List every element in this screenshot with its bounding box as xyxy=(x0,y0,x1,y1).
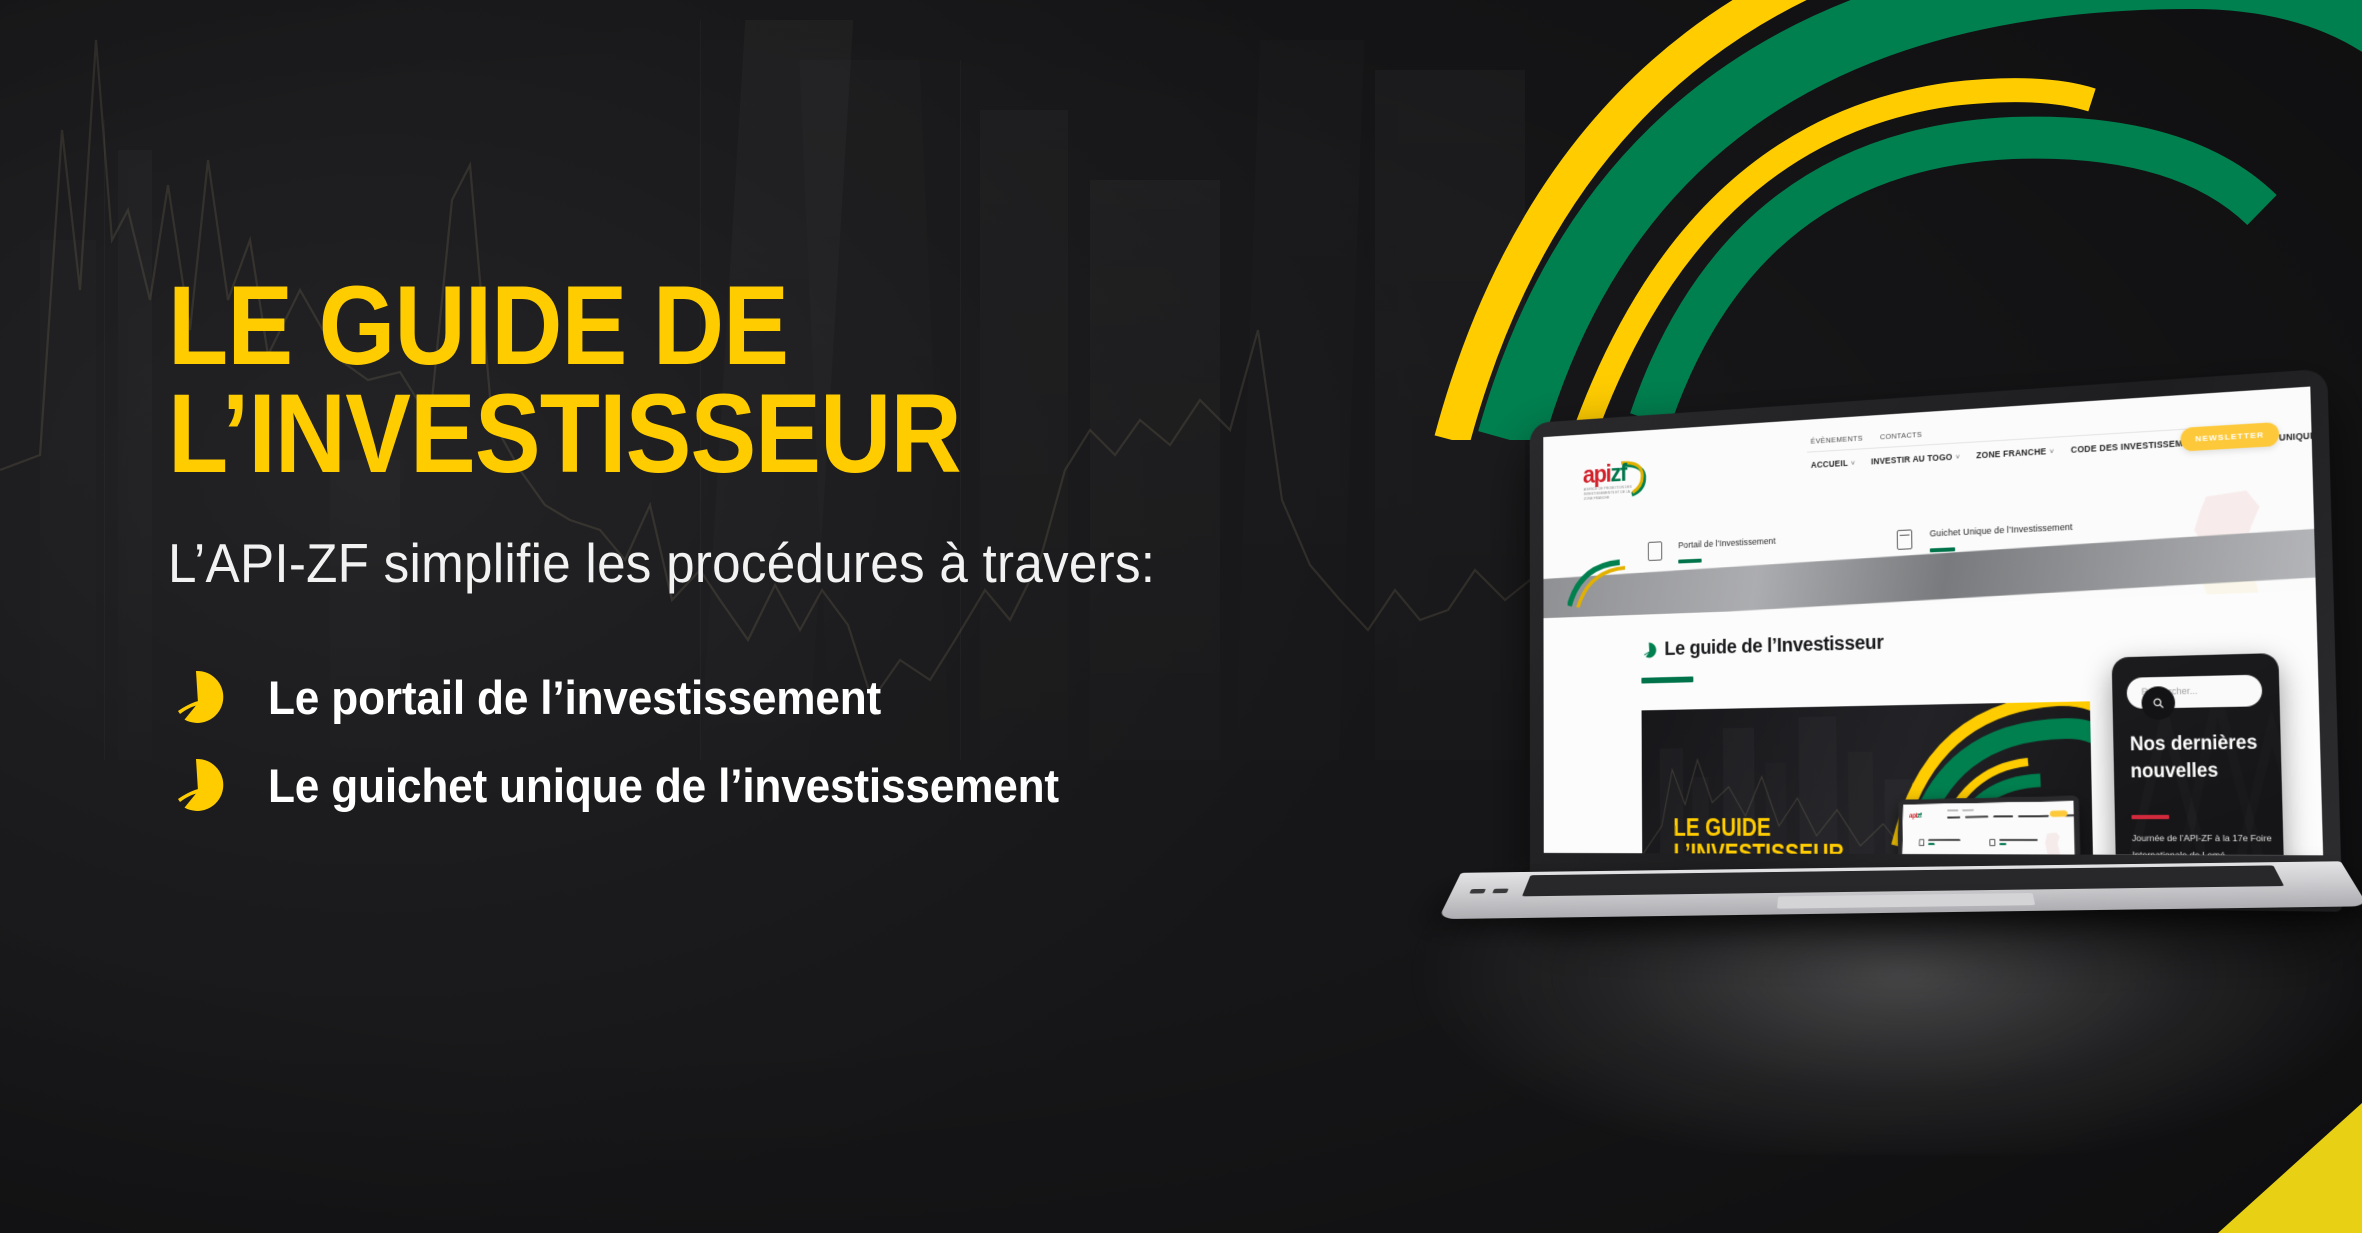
list-item[interactable]: Le portail de l’investissement xyxy=(168,669,1408,725)
guide-section-title: Le guide de l’Investisseur xyxy=(1664,632,1883,661)
news-panel-heading: Nos dernières nouvelles xyxy=(2130,730,2264,785)
accent-underline xyxy=(1678,559,1701,563)
nested-menu-item xyxy=(1989,839,2037,846)
hero-content: LE GUIDE DE L’INVESTISSEUR L’API-ZF simp… xyxy=(168,272,1408,845)
top-link-evenements[interactable]: ÉVÈNEMENTS xyxy=(1811,434,1863,446)
top-links: ÉVÈNEMENTS CONTACTS xyxy=(1811,430,1922,446)
search-icon xyxy=(2152,697,2165,710)
page-title: LE GUIDE DE L’INVESTISSEUR xyxy=(168,272,1259,487)
hero-card[interactable]: LE GUIDE L’INVESTISSEUR L’API-ZF simplif… xyxy=(1642,702,2095,856)
nested-newsletter-button xyxy=(2050,811,2068,818)
site-header: apizf AGENCE DE PROMOTION DESINVESTISSEM… xyxy=(1543,387,2314,561)
nested-device-mockup: apizf xyxy=(1897,796,2081,855)
nested-menu-item xyxy=(1919,840,1960,847)
list-item-label: Le portail de l’investissement xyxy=(268,670,881,725)
nested-top-links xyxy=(1947,809,1974,811)
portal-icon xyxy=(1648,541,1662,561)
nested-device-screen: apizf xyxy=(1902,801,2076,855)
hero-subtitle: L’API-ZF simplifie les procédures à trav… xyxy=(168,531,1321,595)
newsletter-button[interactable]: NEWSLETTER xyxy=(2180,422,2279,452)
accent-underline xyxy=(2131,815,2169,819)
laptop-keyboard[interactable] xyxy=(1522,866,2283,897)
hero-card-title: LE GUIDE L’INVESTISSEUR xyxy=(1673,816,1844,855)
laptop-ports xyxy=(1469,889,1508,894)
laptop-mockup: apizf AGENCE DE PROMOTION DESINVESTISSEM… xyxy=(1470,395,2362,1155)
chevron-down-icon: ˅ xyxy=(1851,461,1855,468)
chevron-down-icon: ˅ xyxy=(2320,433,2324,441)
list-item-label: Le guichet unique de l’investissement xyxy=(268,758,1059,813)
accent-underline xyxy=(1930,547,1955,552)
search-input[interactable]: Rechercher... xyxy=(2127,675,2263,709)
mega-menu-label: Portail de l’Investissement xyxy=(1678,536,1776,550)
nav-item-zone-franche[interactable]: ZONE FRANCHE˅ xyxy=(1976,446,2054,461)
arrow-swoosh-icon xyxy=(168,757,224,813)
arrow-swoosh-icon xyxy=(1641,642,1656,659)
nested-togo-map xyxy=(2043,833,2065,855)
logo-wordmark: apizf xyxy=(1583,462,1626,488)
logo-tagline: AGENCE DE PROMOTION DESINVESTISSEMENTS E… xyxy=(1584,485,1632,501)
arrow-swoosh-icon xyxy=(168,669,224,725)
accent-underline xyxy=(1641,677,1693,684)
bank-icon xyxy=(1897,529,1913,550)
news-article-title[interactable]: Journée de l’API-ZF à la 17e Foire Inter… xyxy=(2132,831,2278,855)
mini-swoosh-graphic xyxy=(1567,552,1646,608)
mega-menu-label: Guichet Unique de l’Investissement xyxy=(1930,522,2073,539)
news-panel: Rechercher... Nos dernières nouvelles xyxy=(2112,654,2287,856)
chevron-down-icon: ˅ xyxy=(2049,449,2053,456)
site-body: Le guide de l’Investisseur xyxy=(1543,591,2323,855)
nav-item-accueil[interactable]: ACCUEIL˅ xyxy=(1811,458,1855,470)
list-item[interactable]: Le guichet unique de l’investissement xyxy=(168,757,1408,813)
chevron-down-icon: ˅ xyxy=(1955,454,1959,461)
nav-item-investir-au-togo[interactable]: INVESTIR AU TOGO˅ xyxy=(1871,451,1960,466)
nested-logo: apizf xyxy=(1909,813,1921,820)
laptop-trackpad[interactable] xyxy=(1777,893,2036,909)
feature-list: Le portail de l’investissement Le guiche… xyxy=(168,669,1408,813)
apizf-logo[interactable]: apizf AGENCE DE PROMOTION DESINVESTISSEM… xyxy=(1583,455,1651,502)
hero-banner: LE GUIDE DE L’INVESTISSEUR L’API-ZF simp… xyxy=(0,0,2362,1233)
website-preview: apizf AGENCE DE PROMOTION DESINVESTISSEM… xyxy=(1543,387,2323,856)
guide-section-heading: Le guide de l’Investisseur xyxy=(1641,632,1883,662)
laptop-screen: apizf AGENCE DE PROMOTION DESINVESTISSEM… xyxy=(1543,387,2323,856)
laptop-lid: apizf AGENCE DE PROMOTION DESINVESTISSEM… xyxy=(1530,369,2343,912)
top-link-contacts[interactable]: CONTACTS xyxy=(1880,430,1922,441)
brand-swoosh-graphic xyxy=(1392,0,2362,440)
